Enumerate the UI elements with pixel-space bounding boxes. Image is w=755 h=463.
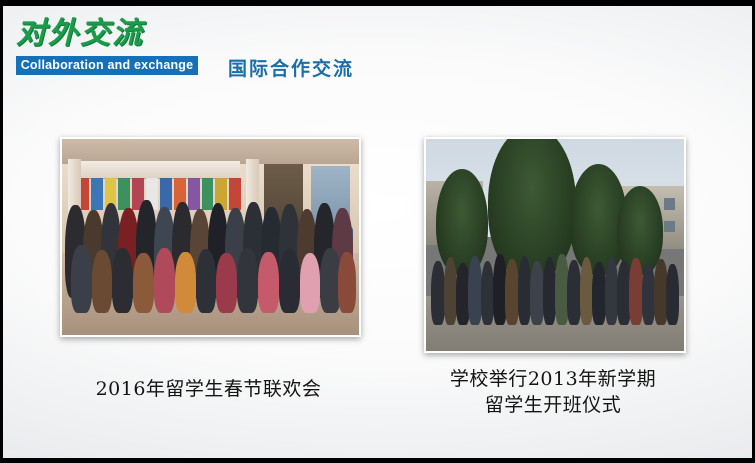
slide-border-bottom — [0, 458, 755, 463]
caption-opening-ceremony: 学校举行2013年新学期 留学生开班仪式 — [414, 366, 692, 418]
slide: 对外交流 Collaboration and exchange 国际合作交流 — [0, 0, 755, 463]
page-title: 国际合作交流 — [228, 54, 354, 81]
photo-opening-ceremony — [424, 137, 686, 353]
photo-right-content — [426, 139, 684, 351]
caption-spring-festival-party: 2016年留学生春节联欢会 — [60, 376, 357, 402]
slide-border-left — [0, 0, 3, 463]
logo-chinese-title: 对外交流 — [16, 12, 198, 56]
logo-english-title: Collaboration and exchange — [16, 56, 198, 75]
stage-banner — [80, 161, 240, 180]
crowd-group-left — [62, 198, 359, 323]
crowd-group-right — [431, 245, 679, 334]
photo-left-content — [62, 139, 359, 335]
slide-border-top — [0, 0, 755, 6]
logo: 对外交流 Collaboration and exchange — [16, 12, 198, 76]
photo-spring-festival-party — [60, 137, 361, 337]
